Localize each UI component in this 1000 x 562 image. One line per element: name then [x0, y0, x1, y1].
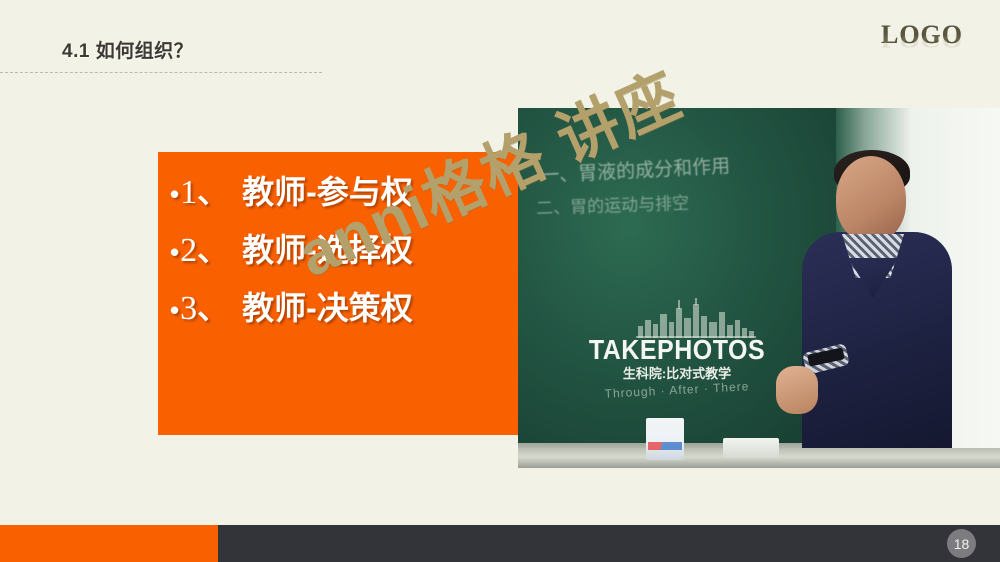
desk-tray: [723, 438, 779, 458]
bullet-comma: 、: [197, 235, 228, 266]
teacher-hand: [776, 366, 818, 414]
lecture-photo: 一、胃液的成分和作用 二、胃的运动与排空: [518, 108, 1000, 468]
bullet-dot-icon: •: [170, 297, 179, 323]
bullet-comma: 、: [197, 293, 228, 324]
bullet-dot-icon: •: [170, 181, 179, 207]
bullet-label: 教师-参与权: [242, 176, 413, 208]
logo: LOGO LOGO: [872, 22, 972, 78]
desk-box-label: [648, 442, 682, 450]
list-item: • 1 、 教师-参与权: [170, 176, 516, 210]
bullet-label: 教师-决策权: [242, 292, 413, 324]
title-divider: [0, 72, 322, 73]
teacher-head: [836, 156, 906, 242]
bullet-number: 2: [180, 234, 197, 268]
bullet-label: 教师-选择权: [242, 234, 413, 266]
bullet-number: 3: [180, 292, 197, 326]
logo-reflection: LOGO: [872, 31, 972, 51]
page-number-badge: 18: [947, 529, 976, 558]
photo-brand-title: TAKEPHOTOS: [518, 334, 836, 366]
bullet-number: 1: [180, 176, 197, 210]
list-item: • 2 、 教师-选择权: [170, 234, 516, 268]
slide-canvas: 4.1 如何组织？ LOGO LOGO • 1 、 教师-参与权 • 2 、 教…: [0, 0, 1000, 562]
bullet-dot-icon: •: [170, 239, 179, 265]
desk-box: [646, 418, 684, 460]
page-title: 4.1 如何组织？: [62, 36, 193, 63]
city-skyline-icon: [636, 298, 756, 338]
bullet-comma: 、: [197, 177, 228, 208]
content-card: • 1 、 教师-参与权 • 2 、 教师-选择权 • 3 、 教师-决策权: [158, 152, 520, 435]
footer-accent-block: [0, 525, 218, 562]
list-item: • 3 、 教师-决策权: [170, 292, 516, 326]
bullet-list: • 1 、 教师-参与权 • 2 、 教师-选择权 • 3 、 教师-决策权: [170, 176, 516, 350]
